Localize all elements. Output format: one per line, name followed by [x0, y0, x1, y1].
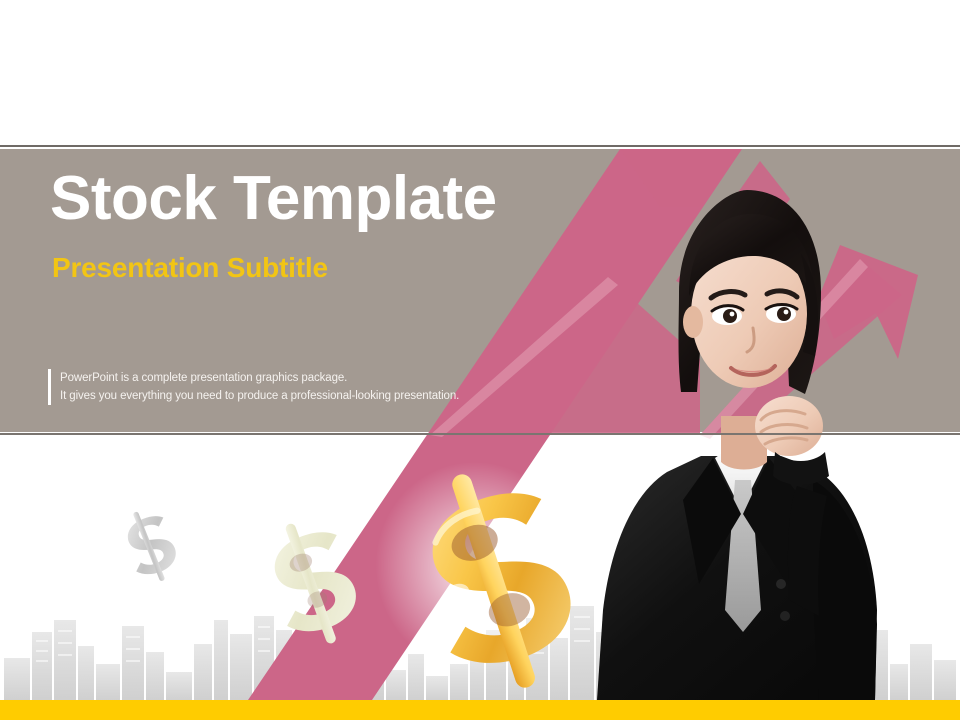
slide-body-text[interactable]: PowerPoint is a complete presentation gr…: [48, 369, 459, 405]
yellow-footer-bar: [0, 700, 960, 720]
body-line-1: PowerPoint is a complete presentation gr…: [60, 369, 459, 387]
slide-subtitle[interactable]: Presentation Subtitle: [52, 252, 328, 284]
top-divider-rule: [0, 145, 960, 147]
money-symbols-group: [60, 440, 620, 700]
businesswoman-photo: [575, 180, 935, 700]
slide-title[interactable]: Stock Template: [50, 166, 497, 231]
dollar-sign-far-icon: [115, 503, 185, 589]
body-accent-bar: [48, 369, 51, 405]
dollar-sign-mid-icon: [255, 510, 371, 656]
body-line-2: It gives you everything you need to prod…: [60, 387, 459, 405]
body-lines: PowerPoint is a complete presentation gr…: [60, 369, 459, 405]
slide-top-white-area: [0, 0, 960, 146]
bottom-divider-rule: [0, 433, 960, 435]
presentation-slide: Stock Template Presentation Subtitle Pow…: [0, 0, 960, 720]
